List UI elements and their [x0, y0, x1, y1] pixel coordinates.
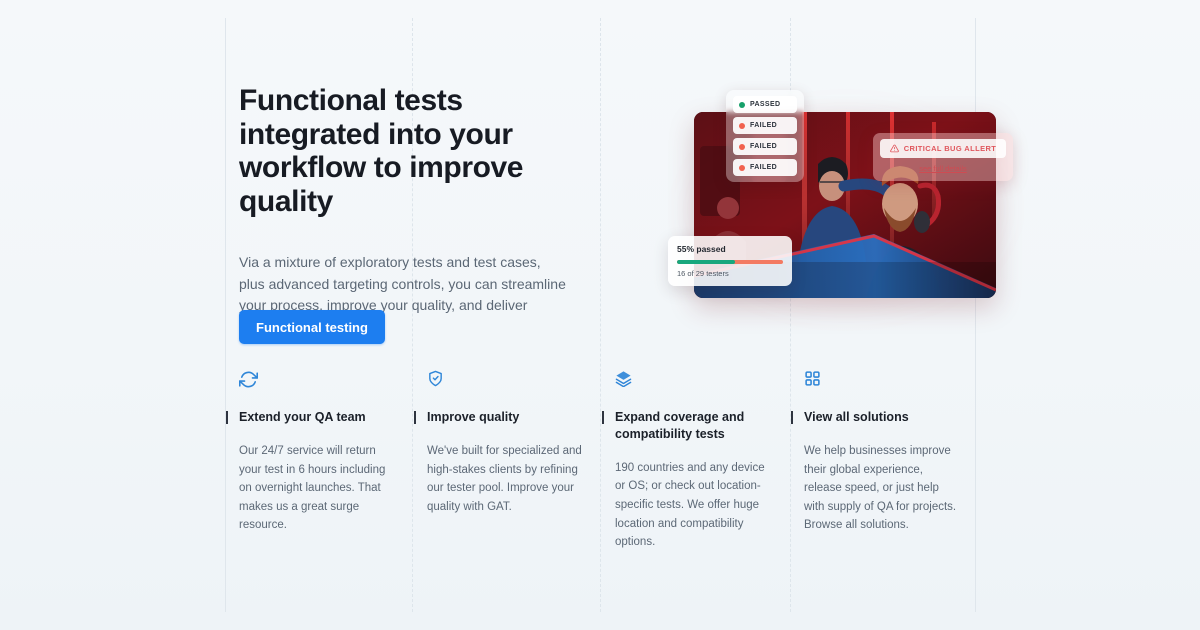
warning-triangle-icon [890, 144, 899, 153]
heading-tick [602, 411, 604, 424]
pass-rate-bar-fill [677, 260, 735, 264]
status-dot-failed [739, 165, 745, 171]
status-pill-label: FAILED [750, 122, 777, 129]
page-title: Functional tests integrated into your wo… [239, 84, 589, 218]
hero-text-block: Functional tests integrated into your wo… [239, 84, 589, 337]
feature-body: We've built for specialized and high-sta… [427, 442, 582, 517]
test-status-list: PASSED FAILED FAILED FAILED [726, 90, 804, 182]
status-dot-failed [739, 123, 745, 129]
feature-card-extend-qa-team: Extend your QA team Our 24/7 service wil… [239, 370, 389, 535]
refresh-icon [239, 370, 389, 390]
status-pill[interactable]: FAILED [733, 138, 797, 155]
see-full-details-link[interactable]: see full details [880, 164, 1006, 173]
pass-rate-title: 55% passed [677, 244, 783, 254]
heading-tick [226, 411, 228, 424]
status-pill-label: FAILED [750, 164, 777, 171]
heading-tick [791, 411, 793, 424]
pass-rate-card: 55% passed 16 of 29 testers [668, 236, 792, 286]
feature-body: 190 countries and any device or OS; or c… [615, 459, 770, 552]
pass-rate-bar [677, 260, 783, 264]
pass-rate-subtitle: 16 of 29 testers [677, 269, 783, 278]
feature-card-view-all-solutions: View all solutions We help businesses im… [804, 370, 962, 535]
feature-heading: Extend your QA team [239, 409, 389, 426]
rule-left [225, 18, 226, 612]
status-pill[interactable]: PASSED [733, 96, 797, 113]
hero-media: PASSED FAILED FAILED FAILED [668, 86, 1018, 316]
functional-testing-button[interactable]: Functional testing [239, 310, 385, 344]
status-pill[interactable]: FAILED [733, 117, 797, 134]
heading-tick [414, 411, 416, 424]
feature-body: We help businesses improve their global … [804, 442, 962, 535]
feature-card-expand-coverage: Expand coverage and compatibility tests … [615, 370, 770, 552]
feature-body: Our 24/7 service will return your test i… [239, 442, 389, 535]
rule-col-2 [600, 18, 601, 612]
critical-bug-alert-label: CRITICAL BUG ALLERT [904, 144, 997, 153]
critical-bug-alert-row: CRITICAL BUG ALLERT [880, 139, 1006, 158]
status-dot-passed [739, 102, 745, 108]
status-dot-failed [739, 144, 745, 150]
feature-heading: Improve quality [427, 409, 582, 426]
layers-icon [615, 370, 770, 390]
status-pill-label: PASSED [750, 101, 780, 108]
grid-icon [804, 370, 962, 390]
feature-heading: Expand coverage and compatibility tests [615, 409, 770, 443]
page-root: Functional tests integrated into your wo… [0, 0, 1200, 630]
feature-card-improve-quality: Improve quality We've built for speciali… [427, 370, 582, 516]
shield-check-icon [427, 370, 582, 390]
feature-heading: View all solutions [804, 409, 962, 426]
status-pill-label: FAILED [750, 143, 777, 150]
status-pill[interactable]: FAILED [733, 159, 797, 176]
critical-bug-alert-card: CRITICAL BUG ALLERT see full details [873, 133, 1013, 181]
